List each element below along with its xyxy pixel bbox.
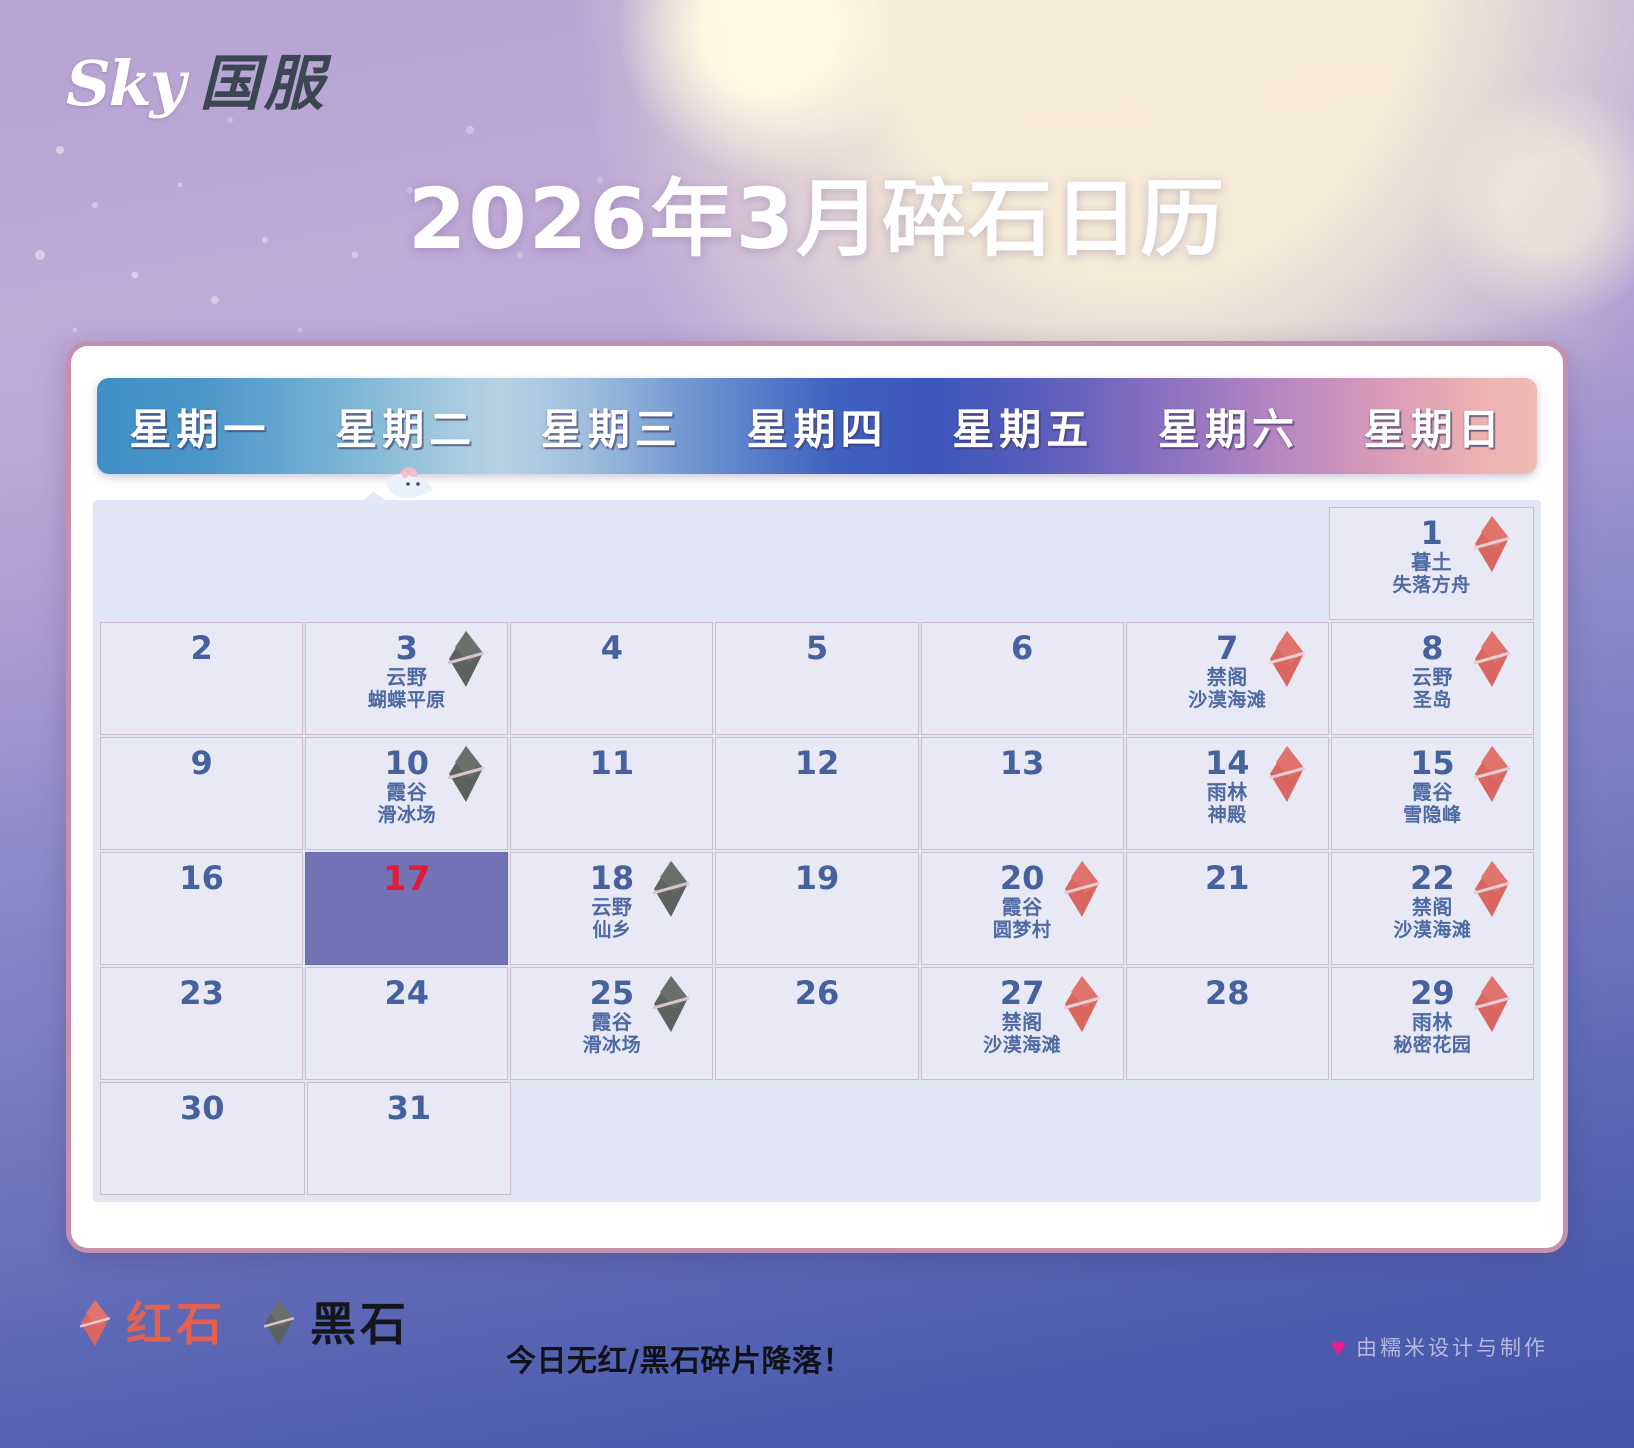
legend-black-label: 黑石: [310, 1301, 410, 1347]
day-number: 27: [1000, 977, 1045, 1011]
shard-realm-label: 云野: [1412, 666, 1453, 690]
calendar-day-cell[interactable]: 30: [100, 1082, 305, 1195]
logo-cn-text: 国服: [200, 54, 328, 114]
day-number: 18: [590, 862, 635, 896]
red-gem-icon: [1059, 974, 1105, 1036]
legend-red-stone: 红石: [76, 1298, 226, 1350]
shard-realm-label: 霞谷: [591, 1011, 632, 1035]
day-number: 7: [1216, 632, 1238, 666]
calendar-day-cell[interactable]: 23: [100, 967, 303, 1080]
calendar-day-cell[interactable]: 4: [510, 622, 713, 735]
brand-logo: Sky 国服: [66, 46, 328, 122]
day-number: 15: [1410, 747, 1455, 781]
calendar-day-cell[interactable]: 28: [1126, 967, 1329, 1080]
weekday-header-bar: 星期一 星期二 星期三 星期四 星期五 星期六 星期日: [97, 378, 1537, 474]
shard-area-label: 失落方舟: [1393, 574, 1471, 596]
day-number: 26: [795, 977, 840, 1011]
calendar-card: 星期一 星期二 星期三 星期四 星期五 星期六 星期日 1暮土失落方舟23云野蝴…: [66, 341, 1568, 1253]
calendar-cell-empty: [1124, 507, 1327, 620]
calendar-day-cell[interactable]: 2: [100, 622, 303, 735]
shard-realm-label: 云野: [386, 666, 427, 690]
black-gem-icon: [443, 629, 489, 691]
day-number: 19: [795, 862, 840, 896]
weekday-tuesday: 星期二: [303, 396, 509, 457]
calendar-day-cell[interactable]: 12: [715, 737, 918, 850]
day-number: 10: [384, 747, 429, 781]
calendar-grid: 1暮土失落方舟23云野蝴蝶平原4567禁阁沙漠海滩8云野圣岛910霞谷滑冰场11…: [93, 500, 1541, 1202]
red-gem-icon: [1469, 859, 1515, 921]
shard-realm-label: 霞谷: [1412, 781, 1453, 805]
shard-realm-label: 暮土: [1411, 551, 1452, 575]
shard-area-label: 蝴蝶平原: [368, 689, 446, 711]
shard-area-label: 雪隐峰: [1403, 804, 1462, 826]
shard-realm-label: 霞谷: [1002, 896, 1043, 920]
calendar-day-cell[interactable]: 27禁阁沙漠海滩: [921, 967, 1124, 1080]
calendar-day-cell[interactable]: 14雨林神殿: [1126, 737, 1329, 850]
day-number: 9: [190, 747, 212, 781]
shard-area-label: 神殿: [1208, 804, 1247, 826]
weekday-friday: 星期五: [920, 396, 1126, 457]
calendar-day-cell[interactable]: 26: [715, 967, 918, 1080]
calendar-cell-empty: [715, 507, 918, 620]
red-gem-icon: [1469, 744, 1515, 806]
shard-realm-label: 禁阁: [1207, 666, 1248, 690]
red-gem-icon: [76, 1298, 114, 1350]
red-gem-icon: [1264, 744, 1310, 806]
day-number: 28: [1205, 977, 1250, 1011]
calendar-day-cell[interactable]: 19: [715, 852, 918, 965]
day-number: 16: [179, 862, 224, 896]
red-gem-icon: [1469, 514, 1515, 576]
weekday-sunday: 星期日: [1331, 396, 1537, 457]
no-shard-notice: 今日无红/黑石碎片降落！: [506, 1336, 853, 1380]
shard-area-label: 圣岛: [1413, 689, 1452, 711]
calendar-week-row: 910霞谷滑冰场11121314雨林神殿15霞谷雪隐峰: [99, 736, 1535, 851]
day-number: 29: [1410, 977, 1455, 1011]
weekday-thursday: 星期四: [714, 396, 920, 457]
legend-black-stone: 黑石: [260, 1298, 410, 1350]
page-title: 2026年3月碎石日历: [0, 152, 1634, 273]
day-number: 11: [590, 747, 635, 781]
calendar-day-cell[interactable]: 10霞谷滑冰场: [305, 737, 508, 850]
shard-area-label: 滑冰场: [377, 804, 436, 826]
calendar-page: Sky 国服 2026年3月碎石日历 星期一 星期二 星期三 星期四 星期五 星…: [0, 0, 1634, 1448]
calendar-day-cell[interactable]: 11: [510, 737, 713, 850]
calendar-cell-empty: [100, 507, 303, 620]
day-number: 8: [1421, 632, 1443, 666]
day-number: 31: [387, 1092, 432, 1126]
shard-area-label: 秘密花园: [1393, 1034, 1471, 1056]
shard-realm-label: 禁阁: [1002, 1011, 1043, 1035]
calendar-day-cell[interactable]: 29雨林秘密花园: [1331, 967, 1534, 1080]
calendar-day-cell[interactable]: 24: [305, 967, 508, 1080]
calendar-day-cell[interactable]: 1暮土失落方舟: [1329, 507, 1534, 620]
day-number: 17: [383, 862, 430, 898]
calendar-day-cell[interactable]: 18云野仙乡: [510, 852, 713, 965]
calendar-week-row: 232425霞谷滑冰场2627禁阁沙漠海滩2829雨林秘密花园: [99, 966, 1535, 1081]
red-gem-icon: [1469, 974, 1515, 1036]
day-number: 20: [1000, 862, 1045, 896]
calendar-week-row: 1暮土失落方舟: [99, 506, 1535, 621]
black-gem-icon: [443, 744, 489, 806]
black-gem-icon: [648, 974, 694, 1036]
calendar-day-cell[interactable]: 21: [1126, 852, 1329, 965]
day-number: 6: [1011, 632, 1033, 666]
shard-realm-label: 雨林: [1412, 1011, 1453, 1035]
legend: 红石 黑石: [76, 1298, 410, 1350]
black-gem-icon: [648, 859, 694, 921]
legend-red-label: 红石: [126, 1301, 226, 1347]
calendar-day-cell[interactable]: 25霞谷滑冰场: [510, 967, 713, 1080]
shard-area-label: 沙漠海滩: [1393, 919, 1471, 941]
calendar-day-cell[interactable]: 22禁阁沙漠海滩: [1331, 852, 1534, 965]
weekday-monday: 星期一: [97, 396, 303, 457]
day-number: 25: [590, 977, 635, 1011]
shard-realm-label: 雨林: [1207, 781, 1248, 805]
calendar-week-row: 3031: [99, 1081, 1535, 1196]
calendar-cell-empty: [919, 507, 1122, 620]
calendar-day-cell[interactable]: 20霞谷圆梦村: [921, 852, 1124, 965]
calendar-day-cell[interactable]: 31: [307, 1082, 512, 1195]
day-number: 14: [1205, 747, 1250, 781]
day-number: 1: [1420, 517, 1442, 551]
calendar-day-cell[interactable]: 16: [100, 852, 303, 965]
day-number: 12: [795, 747, 840, 781]
logo-sky-text: Sky: [66, 53, 184, 115]
calendar-week-row: 161718云野仙乡1920霞谷圆梦村2122禁阁沙漠海滩: [99, 851, 1535, 966]
day-number: 2: [190, 632, 212, 666]
red-gem-icon: [1264, 629, 1310, 691]
day-number: 22: [1410, 862, 1455, 896]
day-number: 21: [1205, 862, 1250, 896]
calendar-week-row: 23云野蝴蝶平原4567禁阁沙漠海滩8云野圣岛: [99, 621, 1535, 736]
heart-icon: ♥: [1331, 1334, 1346, 1360]
calendar-day-cell[interactable]: 3云野蝴蝶平原: [305, 622, 508, 735]
day-number: 4: [601, 632, 623, 666]
calendar-day-cell[interactable]: 8云野圣岛: [1331, 622, 1534, 735]
red-gem-icon: [1469, 629, 1515, 691]
credit-text: 由糯米设计与制作: [1356, 1332, 1548, 1362]
shard-area-label: 仙乡: [592, 919, 631, 941]
calendar-cell-empty: [1331, 1082, 1534, 1195]
calendar-cell-empty: [513, 1082, 716, 1195]
calendar-day-cell[interactable]: 6: [921, 622, 1124, 735]
calendar-day-cell[interactable]: 7禁阁沙漠海滩: [1126, 622, 1329, 735]
shard-area-label: 沙漠海滩: [1188, 689, 1266, 711]
calendar-cell-empty: [718, 1082, 921, 1195]
calendar-cell-empty: [510, 507, 713, 620]
weekday-wednesday: 星期三: [508, 396, 714, 457]
day-number: 5: [806, 632, 828, 666]
day-number: 3: [396, 632, 418, 666]
shard-realm-label: 霞谷: [386, 781, 427, 805]
calendar-day-cell[interactable]: 5: [715, 622, 918, 735]
calendar-cell-empty: [305, 507, 508, 620]
credit: ♥ 由糯米设计与制作: [1331, 1332, 1548, 1362]
black-gem-icon: [260, 1298, 298, 1350]
shard-realm-label: 云野: [591, 896, 632, 920]
calendar-day-cell[interactable]: 17: [305, 852, 508, 965]
day-number: 13: [1000, 747, 1045, 781]
calendar-cell-empty: [922, 1082, 1125, 1195]
calendar-cell-empty: [1127, 1082, 1330, 1195]
shard-area-label: 滑冰场: [583, 1034, 642, 1056]
shard-realm-label: 禁阁: [1412, 896, 1453, 920]
day-number: 30: [180, 1092, 225, 1126]
calendar-day-cell[interactable]: 9: [100, 737, 303, 850]
day-number: 24: [384, 977, 429, 1011]
weekday-saturday: 星期六: [1126, 396, 1332, 457]
red-gem-icon: [1059, 859, 1105, 921]
shard-area-label: 圆梦村: [993, 919, 1052, 941]
calendar-day-cell[interactable]: 15霞谷雪隐峰: [1331, 737, 1534, 850]
day-number: 23: [179, 977, 224, 1011]
shard-area-label: 沙漠海滩: [983, 1034, 1061, 1056]
calendar-day-cell[interactable]: 13: [921, 737, 1124, 850]
